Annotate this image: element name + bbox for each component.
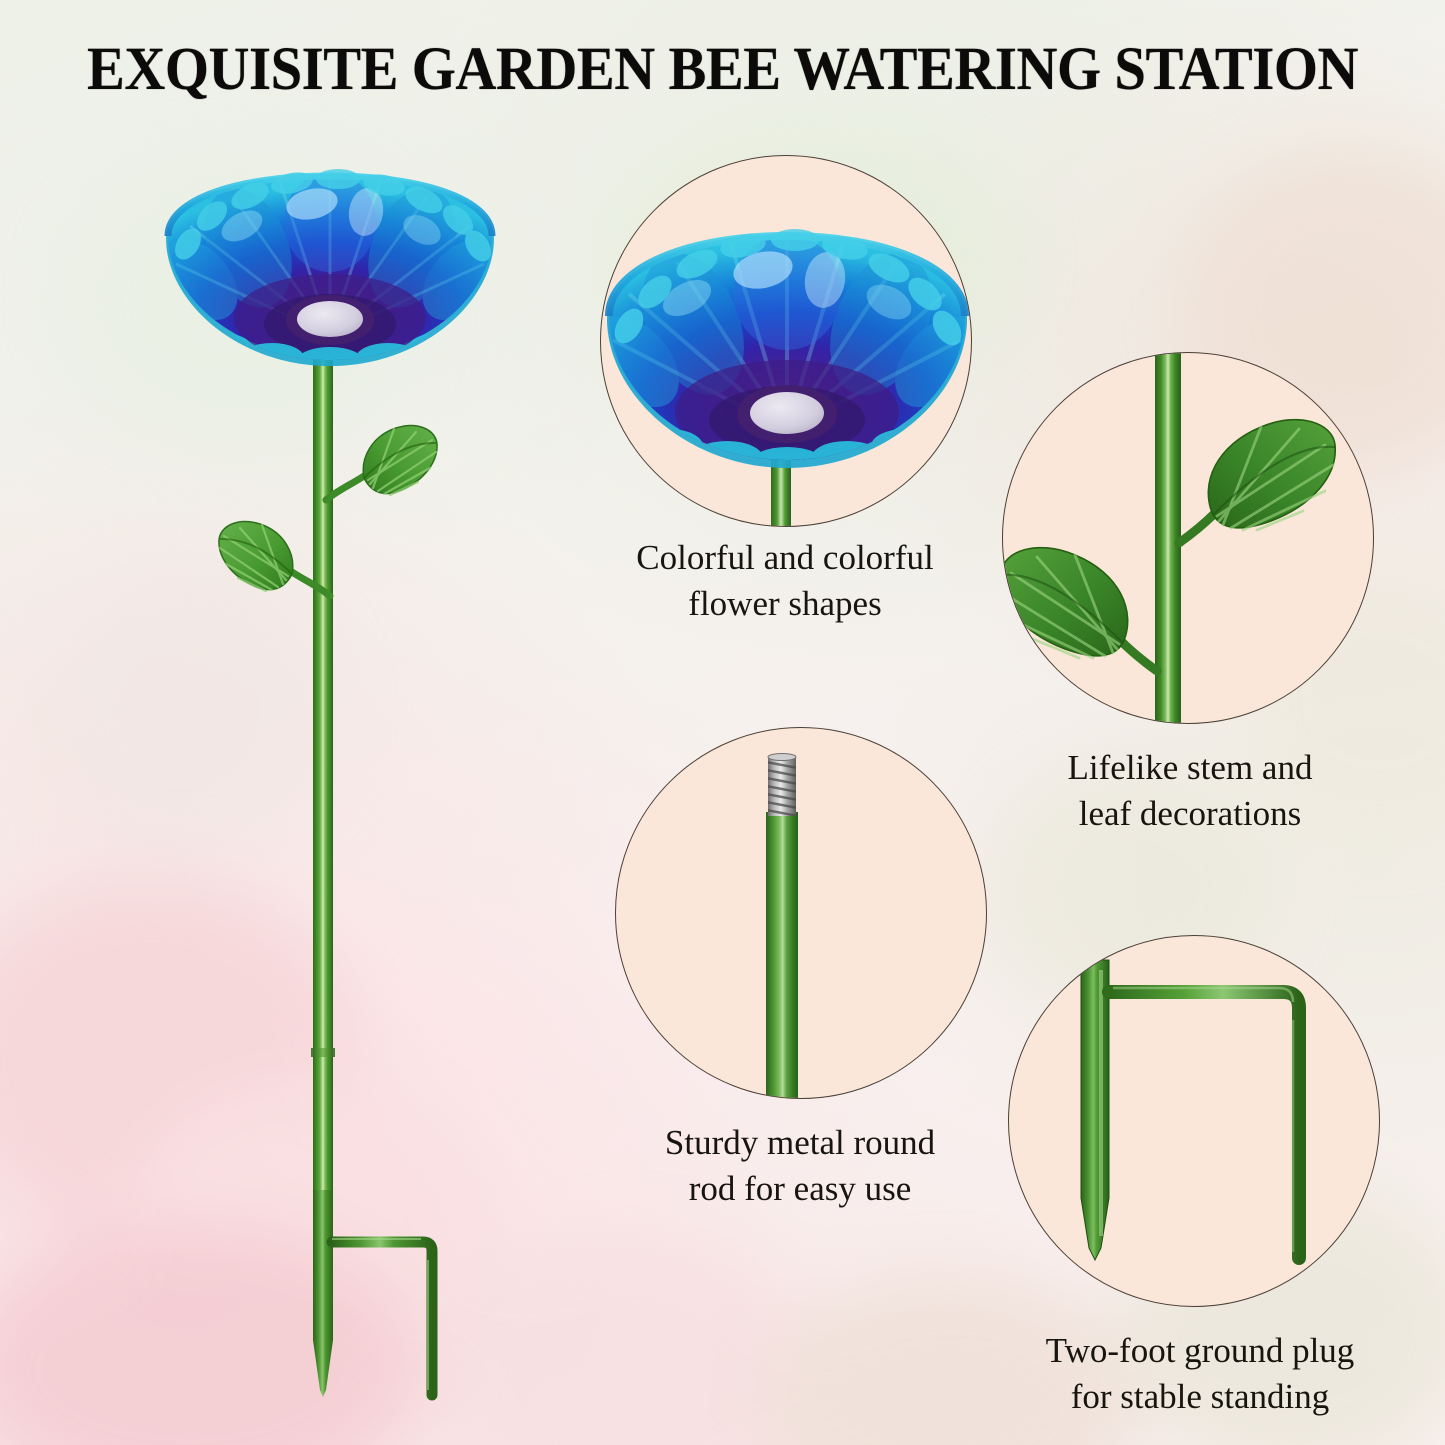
hero-flower-bowl xyxy=(160,160,500,380)
caption-ground-plug-line2: for stable standing xyxy=(985,1374,1415,1420)
stem-leaf-icon xyxy=(1003,353,1373,723)
hero-leaf-upper-right xyxy=(320,418,440,513)
callout-stem-leaf xyxy=(1002,352,1374,724)
caption-ground-plug-line1: Two-foot ground plug xyxy=(985,1328,1415,1374)
callout-ground-plug xyxy=(1008,935,1380,1307)
caption-ground-plug: Two-foot ground plug for stable standing xyxy=(985,1328,1415,1419)
caption-metal-rod: Sturdy metal round rod for easy use xyxy=(595,1120,1005,1211)
caption-stem-leaf-line1: Lifelike stem and xyxy=(985,745,1395,791)
infographic-canvas: EXQUISITE GARDEN BEE WATERING STATION xyxy=(0,0,1445,1445)
caption-metal-rod-line1: Sturdy metal round xyxy=(595,1120,1005,1166)
caption-stem-leaf-line2: leaf decorations xyxy=(985,791,1395,837)
caption-metal-rod-line2: rod for easy use xyxy=(595,1166,1005,1212)
threaded-rod-icon xyxy=(616,728,986,1098)
callout-flower-shapes xyxy=(600,155,972,527)
hero-leaf-lower-left xyxy=(216,510,336,605)
caption-flower-shapes-line1: Colorful and colorful xyxy=(580,535,990,581)
callout-metal-rod xyxy=(615,727,987,1099)
ground-stake-icon xyxy=(1009,936,1379,1306)
caption-flower-shapes: Colorful and colorful flower shapes xyxy=(580,535,990,626)
hero-product xyxy=(0,0,620,1445)
caption-stem-leaf: Lifelike stem and leaf decorations xyxy=(985,745,1395,836)
hero-ground-stake xyxy=(280,1190,500,1445)
flower-bowl-icon xyxy=(600,206,972,526)
hero-stem-joint xyxy=(311,1048,335,1057)
caption-flower-shapes-line2: flower shapes xyxy=(580,581,990,627)
